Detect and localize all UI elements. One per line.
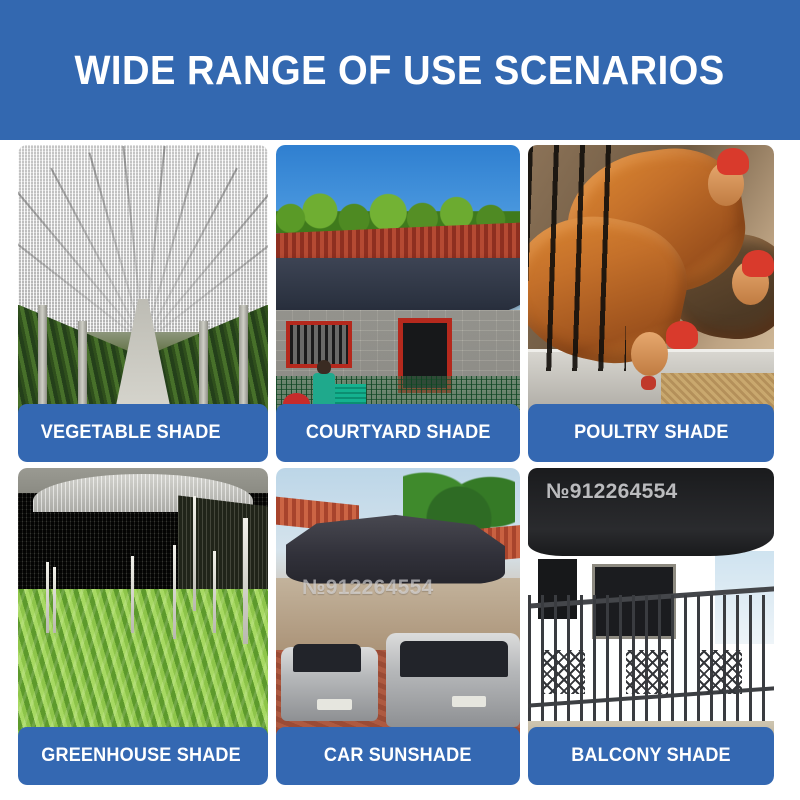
label-text: BALCONY SHADE (571, 745, 731, 767)
scenario-card-courtyard-shade[interactable]: COURTYARD SHADE (276, 145, 520, 462)
scene-courtyard-house (276, 145, 520, 420)
scenario-card-balcony-shade[interactable]: №912264554 BALCONY SHADE (528, 468, 774, 785)
photo-vegetable-shade (18, 145, 268, 420)
card-label-poultry-shade: POULTRY SHADE (528, 404, 774, 462)
scene-poultry-hens (528, 145, 774, 420)
card-label-balcony-shade: BALCONY SHADE (528, 727, 774, 785)
header-banner: WIDE RANGE OF USE SCENARIOS (0, 0, 800, 140)
label-text: CAR SUNSHADE (324, 745, 472, 767)
scenario-card-car-sunshade[interactable]: №912264554 CAR SUNSHADE (276, 468, 520, 785)
scene-balcony-awning-railing (528, 468, 774, 743)
scenario-card-poultry-shade[interactable]: POULTRY SHADE (528, 145, 774, 462)
page-title: WIDE RANGE OF USE SCENARIOS (75, 47, 725, 94)
card-label-vegetable-shade: VEGETABLE SHADE (18, 404, 268, 462)
scenario-card-greenhouse-shade[interactable]: GREENHOUSE SHADE (18, 468, 268, 785)
label-text: POULTRY SHADE (574, 422, 729, 444)
scenario-card-vegetable-shade[interactable]: VEGETABLE SHADE (18, 145, 268, 462)
label-text: VEGETABLE SHADE (41, 422, 221, 444)
card-label-car-sunshade: CAR SUNSHADE (276, 727, 520, 785)
scene-shade-net-seedlings (18, 468, 268, 743)
infographic-page: WIDE RANGE OF USE SCENARIOS (0, 0, 800, 800)
photo-balcony-shade: №912264554 (528, 468, 774, 743)
scene-carport-shade-sail (276, 468, 520, 743)
label-text: GREENHOUSE SHADE (41, 745, 241, 767)
photo-greenhouse-shade (18, 468, 268, 743)
card-label-greenhouse-shade: GREENHOUSE SHADE (18, 727, 268, 785)
photo-courtyard-shade (276, 145, 520, 420)
photo-poultry-shade (528, 145, 774, 420)
scene-greenhouse-interior (18, 145, 268, 420)
card-label-courtyard-shade: COURTYARD SHADE (276, 404, 520, 462)
label-text: COURTYARD SHADE (306, 422, 491, 444)
scenario-grid: VEGETABLE SHADE (18, 145, 782, 785)
photo-car-sunshade: №912264554 (276, 468, 520, 743)
